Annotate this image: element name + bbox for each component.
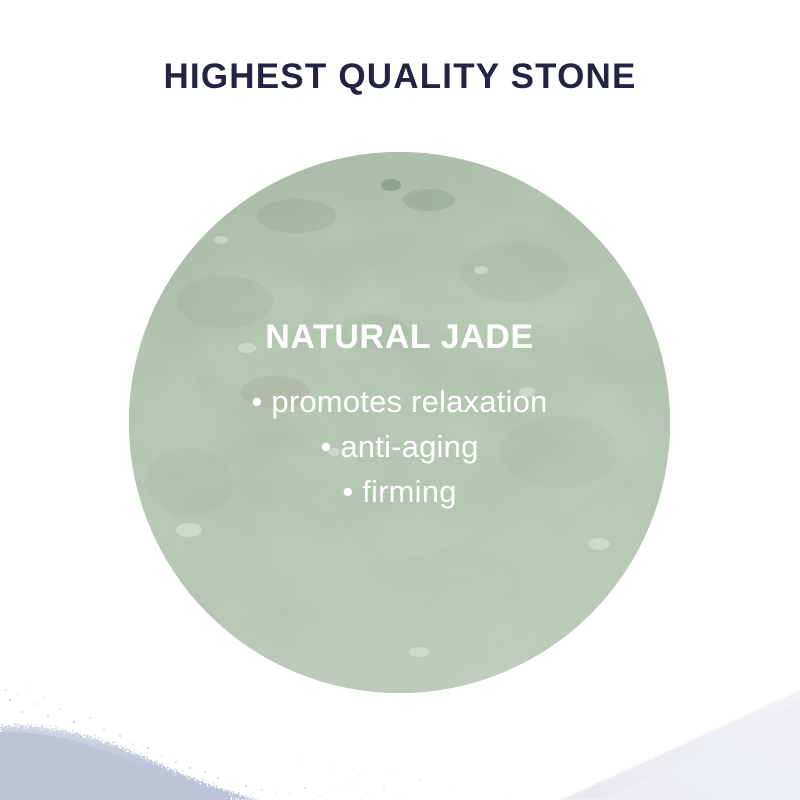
bullet-icon: •: [252, 384, 263, 419]
stone-title: NATURAL JADE: [265, 317, 534, 357]
benefit-label-1: promotes relaxation: [271, 384, 547, 419]
benefit-label-2: anti-aging: [340, 429, 478, 464]
benefit-label-3: firming: [362, 474, 456, 509]
benefit-item-1: • promotes relaxation: [252, 379, 548, 424]
bullet-icon: •: [320, 429, 331, 464]
benefit-item-3: • firming: [342, 469, 456, 514]
page-title: HIGHEST QUALITY STONE: [0, 56, 800, 98]
bottom-right-grey-wash: [560, 690, 800, 800]
jade-stone-figure: NATURAL JADE • promotes relaxation • ant…: [129, 152, 670, 693]
product-feature-card: HIGHEST QUALITY STONE: [0, 0, 800, 800]
bottom-left-watercolor-brush: [0, 687, 511, 800]
benefit-item-2: • anti-aging: [320, 424, 478, 469]
stone-text-block: NATURAL JADE • promotes relaxation • ant…: [129, 152, 670, 693]
bullet-icon: •: [342, 474, 353, 509]
